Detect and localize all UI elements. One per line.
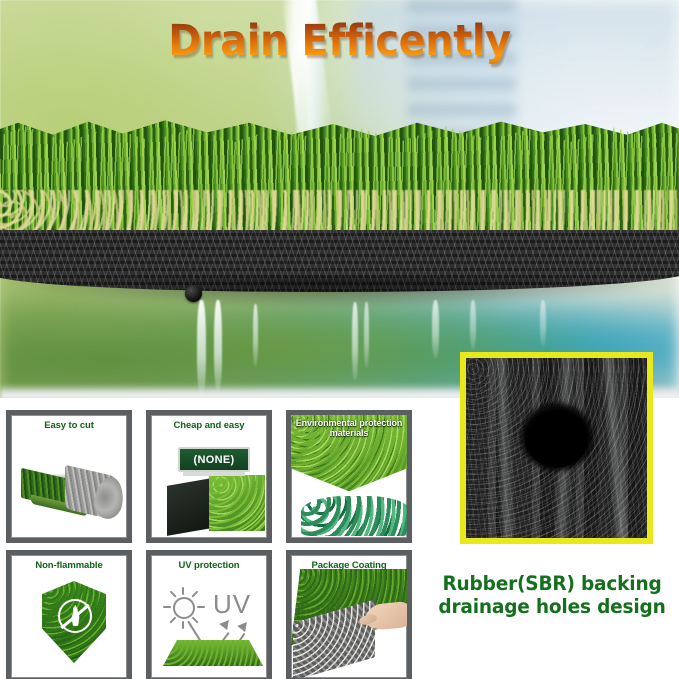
product-feature-image: Drain Efficently Easy to cut: [0, 0, 679, 679]
feature-card-label: UV protection: [151, 560, 267, 571]
sun-ray: [169, 591, 176, 598]
sun-ray: [191, 617, 198, 624]
water-drip: [253, 304, 258, 366]
feature-card-uv-protection[interactable]: UV UV protection: [146, 550, 272, 679]
feature-card-label: Non-flammable: [11, 560, 127, 571]
card-illustration: UV: [151, 555, 267, 678]
feature-card-easy-to-cut[interactable]: Easy to cut: [6, 410, 132, 543]
feature-card-package-coating[interactable]: Package Coating: [286, 550, 412, 679]
green-turf-sample: [209, 475, 265, 531]
turf-cross-section: [0, 118, 679, 313]
sun-ray: [182, 587, 184, 595]
feature-card-cheap-and-easy[interactable]: (NONE) Cheap and easy: [146, 410, 272, 543]
feature-card-label: Cheap and easy: [151, 420, 267, 431]
sun-icon: [173, 597, 195, 619]
turf-shadow: [0, 278, 679, 308]
water-drip: [364, 302, 369, 368]
feature-card-label: Package Coating: [291, 560, 407, 571]
resin-pellets: [301, 496, 411, 536]
card-illustration: [11, 555, 127, 678]
feature-card-non-flammable[interactable]: Non-flammable: [6, 550, 132, 679]
card-illustration: [291, 555, 407, 678]
reflected-ray-arrowhead-2: [237, 619, 250, 632]
card-illustration: [11, 415, 127, 538]
card-illustration: (NONE): [151, 415, 267, 538]
none-sign-text: (NONE): [194, 454, 235, 466]
none-sign: (NONE): [178, 447, 250, 472]
sun-ray: [191, 591, 198, 598]
water-drip: [197, 300, 206, 396]
sun-ray: [163, 606, 171, 608]
feature-card-label: Environmental protection materials: [291, 418, 407, 438]
right-panel-caption: Rubber(SBR) backing drainage holes desig…: [431, 572, 672, 618]
water-drip: [470, 300, 476, 350]
hero-photo: Drain Efficently: [0, 0, 679, 400]
water-drip: [352, 302, 358, 380]
sun-ray: [197, 606, 205, 608]
feature-card-environmental-protection-materials[interactable]: Environmental protection materials: [286, 410, 412, 543]
page-title: Drain Efficently: [24, 16, 655, 66]
turf-surface: [163, 640, 263, 666]
water-drip: [540, 300, 546, 346]
feature-card-label: Easy to cut: [11, 420, 127, 431]
water-drip: [214, 300, 222, 392]
caption-line-2: drainage holes design: [431, 595, 672, 618]
uv-label-icon: UV: [213, 589, 251, 620]
caption-line-1: Rubber(SBR) backing: [431, 572, 672, 595]
sign-post: [183, 472, 245, 476]
drainage-hole-photo: [460, 352, 653, 544]
water-drip: [432, 300, 439, 358]
sun-ray: [169, 617, 176, 624]
sun-ray: [182, 621, 184, 629]
drainage-hole: [524, 406, 590, 468]
turf-roll: [21, 457, 121, 523]
